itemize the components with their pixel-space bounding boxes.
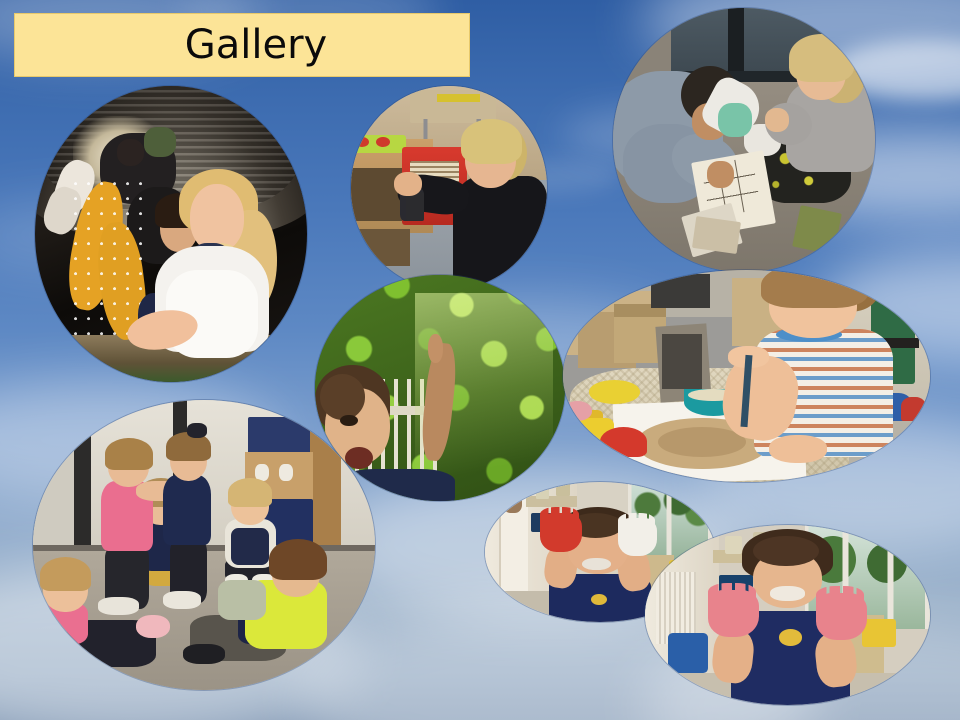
photo-pink-hands-scene <box>645 525 930 705</box>
photo-floor-game[interactable] <box>613 8 875 272</box>
photo-play-kitchen-scene <box>351 86 547 290</box>
photo-floor-game-scene <box>613 8 875 272</box>
photo-play-kitchen[interactable] <box>351 86 547 290</box>
photo-circle-time[interactable] <box>33 400 375 690</box>
photo-pink-hands[interactable] <box>645 525 930 705</box>
gallery-slide: Gallery <box>0 0 960 720</box>
photo-circle-time-scene <box>33 400 375 690</box>
page-title: Gallery <box>185 25 327 65</box>
photo-tunnel-scene <box>35 86 307 382</box>
photo-painting-scene <box>563 270 930 482</box>
page-title-banner: Gallery <box>14 13 470 77</box>
photo-tunnel[interactable] <box>35 86 307 382</box>
photo-painting[interactable] <box>563 270 930 482</box>
